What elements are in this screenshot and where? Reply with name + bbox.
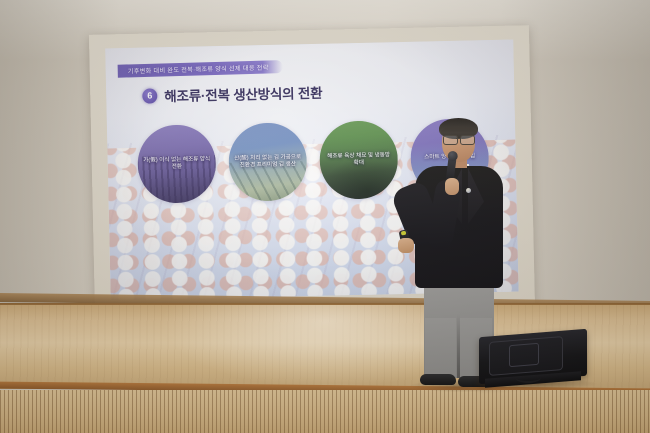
slide-title-row: 6 해조류·전복 생산방식의 전환 xyxy=(142,82,322,106)
slide-circle-3: 해조류 육상 채묘 및 냉동망 확대 xyxy=(319,120,399,200)
slide-circle-1: 가(假) 이식 없는 해조류 양식 전환 xyxy=(137,124,217,204)
circle-1-label: 가(假) 이식 없는 해조류 양식 전환 xyxy=(138,156,216,172)
monitor-cable xyxy=(515,372,541,383)
presenter-hand-right xyxy=(445,178,459,195)
circle-3-label: 해조류 육상 채묘 및 냉동망 확대 xyxy=(320,152,398,168)
slide-circle-2: 산(酸) 처리 없는 김 가공으로 친환경 프리미엄 김 생산 xyxy=(228,122,308,202)
photo-scene: 기후변화 대비 완도 전복·해조류 양식 선제 대응 전략 6 해조류·전복 생… xyxy=(0,0,650,433)
monitor-handle xyxy=(509,343,539,367)
section-number-badge: 6 xyxy=(142,88,157,103)
presenter-shoe-left xyxy=(420,374,456,385)
presenter-trouser-seam xyxy=(457,314,460,378)
presenter-hand-left xyxy=(398,238,414,253)
lapel-pin-icon xyxy=(466,188,471,193)
circle-2-label: 산(酸) 처리 없는 김 가공으로 친환경 프리미엄 김 생산 xyxy=(229,154,307,170)
presenter-leg-left xyxy=(425,318,456,380)
eyeglasses-icon xyxy=(443,135,475,143)
stage-apron-slats xyxy=(0,390,650,433)
slide-banner-text: 기후변화 대비 완도 전복·해조류 양식 선제 대응 전략 xyxy=(128,63,269,76)
slide-title: 해조류·전복 생산방식의 전환 xyxy=(164,82,322,105)
